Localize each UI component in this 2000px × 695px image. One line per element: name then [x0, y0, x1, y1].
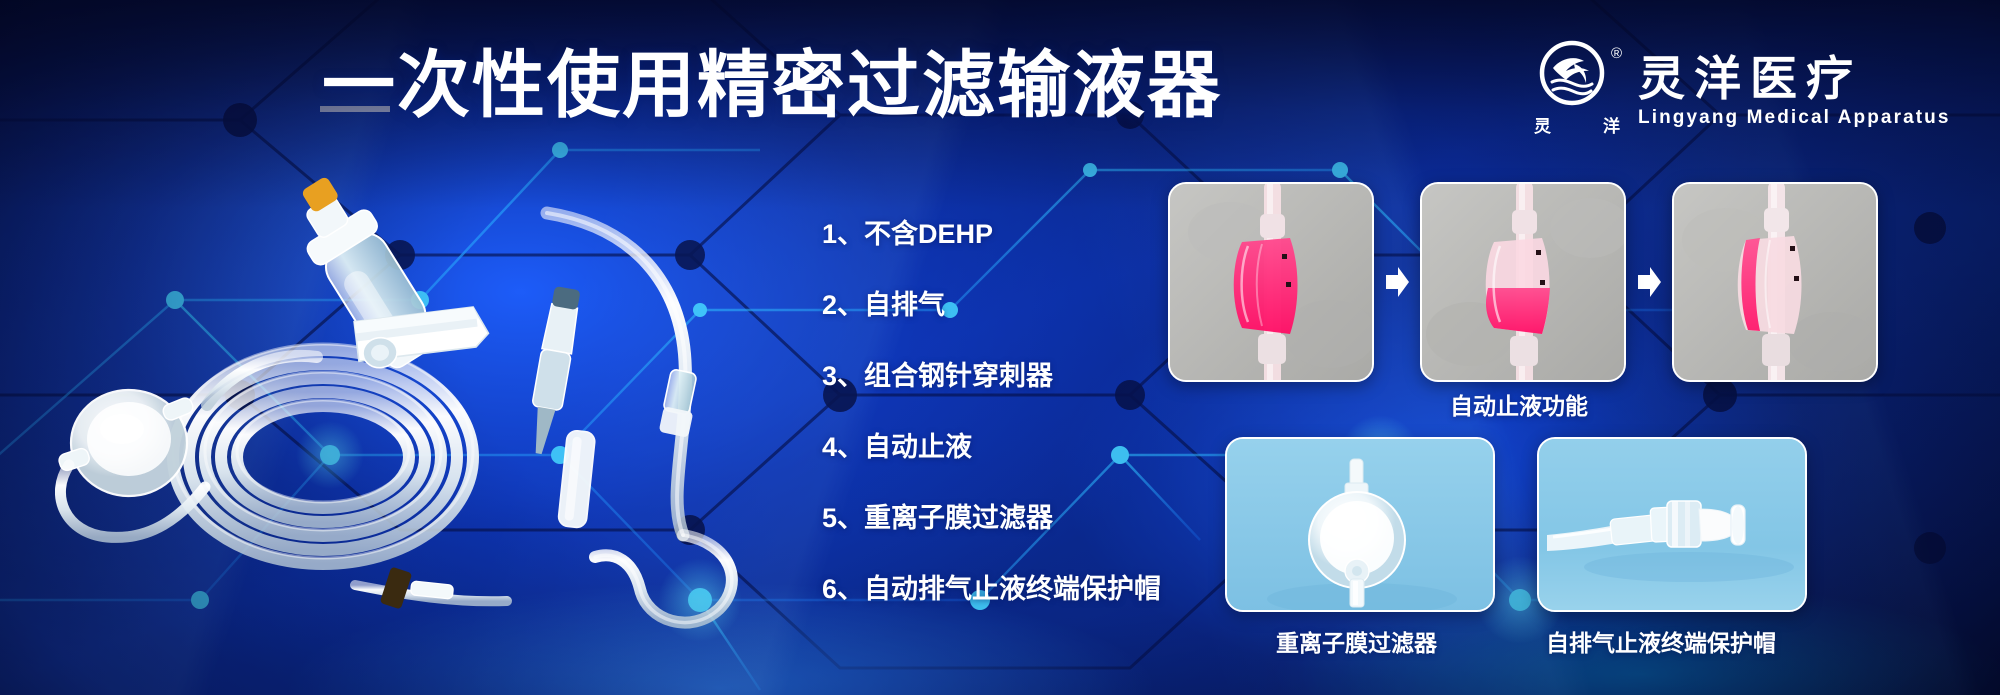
- brand-text-block: 灵洋医疗 Lingyang Medical Apparatus: [1638, 48, 1951, 130]
- product-card-filter: [1225, 437, 1495, 612]
- registered-trademark-icon: ®: [1611, 46, 1622, 61]
- banner-header: 一次性使用精密过滤输液器 ® 灵 洋 灵洋医疗 Lingyang Medic: [0, 0, 2000, 160]
- demo-arrow-1: [1374, 265, 1420, 299]
- brand-lockup: ® 灵 洋 灵洋医疗 Lingyang Medical Apparatus: [1534, 40, 1951, 138]
- brand-mark-char-left: 灵: [1534, 112, 1551, 137]
- brand-mark-characters: 灵 洋: [1534, 112, 1620, 137]
- product-card-caption-filter: 重离子膜过滤器: [1276, 624, 1437, 658]
- demo-sequence-caption: 自动止液功能: [1450, 387, 1588, 421]
- demo-frame-3: [1672, 182, 1878, 382]
- product-photo: [55, 165, 755, 635]
- demo-arrow-2: [1626, 265, 1672, 299]
- lingyang-circle-wave-logo-icon: ® 灵 洋: [1534, 40, 1620, 138]
- product-banner: 一次性使用精密过滤输液器 ® 灵 洋 灵洋医疗 Lingyang Medic: [0, 0, 2000, 695]
- arrow-right-icon: [1636, 265, 1662, 299]
- feature-item-3: 3、组合钢针穿刺器: [822, 360, 1202, 392]
- brand-name-cn: 灵洋医疗: [1638, 52, 1951, 106]
- feature-item-2: 2、自排气: [822, 289, 1202, 321]
- product-card-row: [1225, 437, 1807, 612]
- demo-frame-2: [1420, 182, 1626, 382]
- page-title: 一次性使用精密过滤输液器: [322, 46, 1222, 126]
- feature-item-1: 1、不含DEHP: [822, 218, 1202, 250]
- feature-item-5: 5、重离子膜过滤器: [822, 502, 1202, 534]
- brand-mark-char-right: 洋: [1603, 112, 1620, 137]
- auto-stop-demo-sequence: [1168, 182, 1878, 382]
- product-card-cap: [1537, 437, 1807, 612]
- feature-item-4: 4、自动止液: [822, 431, 1202, 463]
- product-card-caption-cap: 自排气止液终端保护帽: [1546, 624, 1776, 658]
- arrow-right-icon: [1384, 265, 1410, 299]
- feature-list: 1、不含DEHP 2、自排气 3、组合钢针穿刺器 4、自动止液 5、重离子膜过滤…: [822, 218, 1202, 605]
- demo-frame-1: [1168, 182, 1374, 382]
- brand-name-en: Lingyang Medical Apparatus: [1638, 106, 1951, 130]
- feature-item-6: 6、自动排气止液终端保护帽: [822, 573, 1202, 605]
